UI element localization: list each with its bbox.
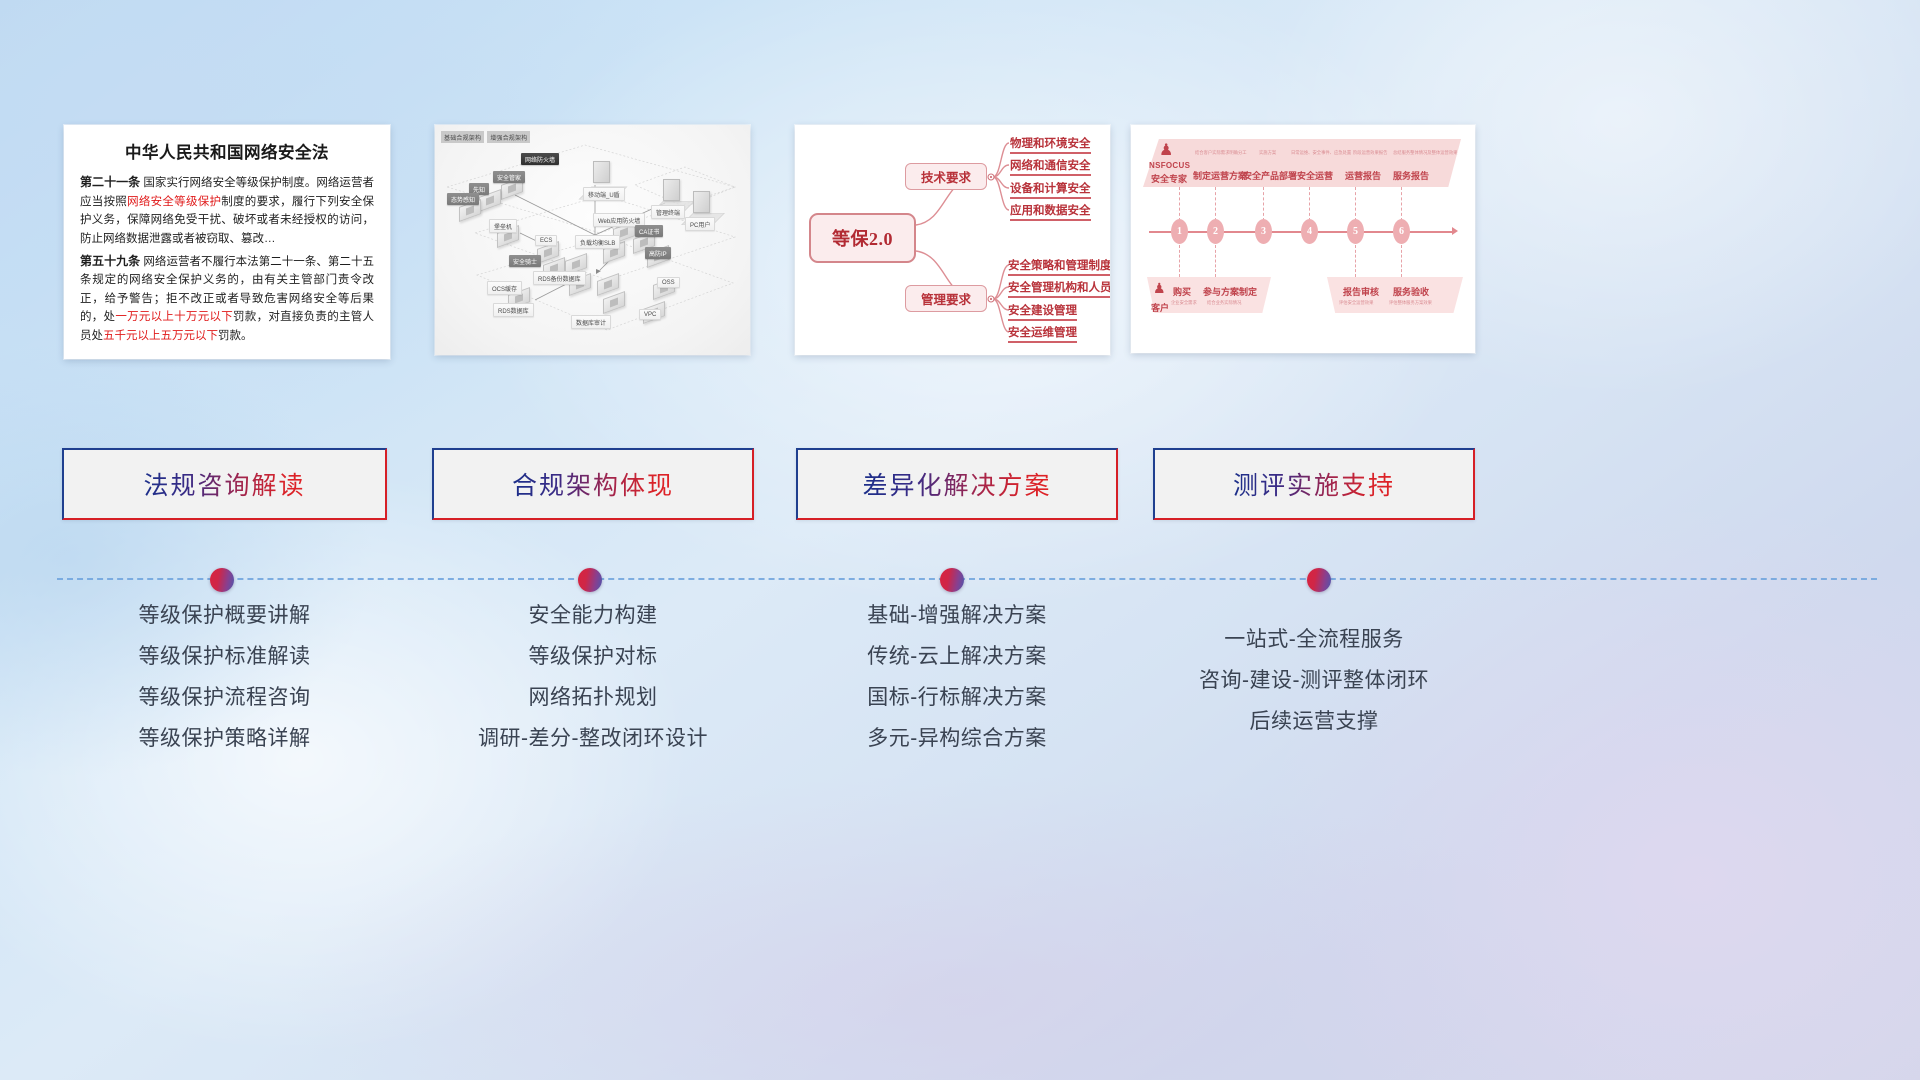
process-top-sub-1: 结合客户实际需求明确分工 <box>1195 150 1247 156</box>
list-item: 等级保护标准解读 <box>62 646 387 667</box>
article-59-red-2: 五千元以上五万元以下 <box>103 330 218 342</box>
pillar-list-solution: 基础-增强解决方案 传统-云上解决方案 国标-行标解决方案 多元-异构综合方案 <box>796 605 1118 769</box>
topology-chip-ca: CA证书 <box>635 225 663 237</box>
process-top-label-4: 运营报告 <box>1345 169 1381 182</box>
mindmap-leaf-device: 设备和计算安全 <box>1010 180 1091 199</box>
process-bottom-sub-4: 评估整体服务方案效果 <box>1389 300 1432 306</box>
list-item: 后续运营支撑 <box>1153 711 1475 732</box>
topology-chip-rdsbackup: RDS备份数据库 <box>533 271 586 285</box>
process-top-sub-4: 阶段运营效果报告 <box>1353 150 1387 156</box>
timeline-dot-4[interactable] <box>1307 568 1331 592</box>
list-item: 传统-云上解决方案 <box>796 646 1118 667</box>
pillar-list-architecture: 安全能力构建 等级保护对标 网络拓扑规划 调研-差分-整改闭环设计 <box>432 605 754 769</box>
topology-tag-basic: 基础合规架构 <box>441 131 484 143</box>
process-dash-4 <box>1309 187 1310 221</box>
mindmap-leaf-network: 网络和通信安全 <box>1010 157 1091 176</box>
topology-diagram: 基础合规架构 增强合规架构 <box>435 125 750 355</box>
topology-chip-ocs: OCS缓存 <box>487 281 522 295</box>
process-bottom-label-4: 服务验收 <box>1393 285 1429 298</box>
process-brand: NSFOCUS <box>1149 161 1190 170</box>
list-item: 一站式-全流程服务 <box>1153 629 1475 650</box>
process-top-label-3: 安全运营 <box>1297 169 1333 182</box>
process-top-sub-2: 实施方案 <box>1259 150 1276 156</box>
process-dash-6 <box>1401 187 1402 221</box>
process-step-5: 5 <box>1347 219 1364 244</box>
list-item: 等级保护对标 <box>432 646 754 667</box>
pillar-list-regulation: 等级保护概要讲解 等级保护标准解读 等级保护流程咨询 等级保护策略详解 <box>62 605 387 769</box>
process-dash-2 <box>1215 187 1216 221</box>
process-customer-label: 客户 <box>1151 301 1169 314</box>
topology-server-admin <box>663 179 680 201</box>
process-brand-sub: 安全专家 <box>1151 172 1187 185</box>
pillar-header-regulation[interactable]: 法规咨询解读 <box>62 448 387 520</box>
topology-chip-anqishi: 安全骑士 <box>509 255 541 267</box>
topology-chip-gaofangip: 高防IP <box>645 247 671 259</box>
thumbnail-mindmap-dengbao[interactable]: 等保2.0 技术要求 管理要求 物理和环境安全 网络和通信安全 设备和计算安全 … <box>795 125 1110 355</box>
topology-server-pc <box>693 191 710 213</box>
topology-chip-taishiganzhi: 态势感知 <box>447 193 479 205</box>
pillar-header-label-3: 差异化解决方案 <box>862 466 1051 502</box>
process-bottom-label-1: 购买 <box>1173 285 1191 298</box>
topology-chip-rds: RDS数据库 <box>493 303 534 317</box>
topology-chip-firewall: 网络防火墙 <box>521 153 559 165</box>
pillar-header-label-1: 法规咨询解读 <box>143 466 305 502</box>
expert-person-icon: ♟ <box>1159 143 1173 159</box>
topology-chip-dbaudit: 数据库审计 <box>571 315 611 329</box>
timeline-dot-2[interactable] <box>578 568 602 592</box>
list-item: 等级保护概要讲解 <box>62 605 387 626</box>
list-item: 多元-异构综合方案 <box>796 728 1118 749</box>
mindmap-leaf-policy: 安全策略和管理制度 <box>1008 257 1110 276</box>
timeline <box>0 568 1920 592</box>
mindmap-leaf-construction: 安全建设管理 <box>1008 302 1077 321</box>
customer-person-icon: ♟ <box>1153 281 1166 295</box>
pillar-header-label-4: 测评实施支持 <box>1233 466 1395 502</box>
law-document: 中华人民共和国网络安全法 第二十一条 国家实行网络安全等级保护制度。网络运营者应… <box>64 125 390 357</box>
mindmap-branch-technical: 技术要求 <box>905 163 987 190</box>
process-dash-b4 <box>1401 245 1402 277</box>
process-step-3: 3 <box>1255 219 1272 244</box>
topology-chip-vpc: VPC <box>639 309 661 320</box>
law-title: 中华人民共和国网络安全法 <box>80 139 374 163</box>
process-dash-b2 <box>1215 245 1216 277</box>
slide-canvas: 中华人民共和国网络安全法 第二十一条 国家实行网络安全等级保护制度。网络运营者应… <box>0 0 1920 1080</box>
pillar-header-architecture[interactable]: 合规架构体现 <box>432 448 754 520</box>
topology-chip-oss: OSS <box>657 277 680 288</box>
mindmap-branch-management: 管理要求 <box>905 285 987 312</box>
topology-chip-ecs: ECS <box>535 235 557 246</box>
pillar-header-row: 法规咨询解读 合规架构体现 差异化解决方案 测评实施支持 <box>0 448 1920 520</box>
article-59-label: 第五十九条 <box>80 254 140 268</box>
article-21-red: 网络安全等级保护 <box>127 196 221 208</box>
process-step-2: 2 <box>1207 219 1224 244</box>
topology-tag-group: 基础合规架构 增强合规架构 <box>441 131 530 143</box>
pillar-header-label-2: 合规架构体现 <box>512 466 674 502</box>
topology-tag-enhanced: 增强合规架构 <box>487 131 530 143</box>
process-step-4: 4 <box>1301 219 1318 244</box>
pillar-header-assessment[interactable]: 测评实施支持 <box>1153 448 1475 520</box>
process-bottom-sub-1: 企业安全需求 <box>1171 300 1197 306</box>
list-item: 咨询-建设-测评整体闭环 <box>1153 670 1475 691</box>
topology-chip-mobile: 移动端_U盾 <box>583 187 625 201</box>
thumbnail-nsfocus-process[interactable]: ♟ NSFOCUS 安全专家 结合客户实际需求明确分工 实施方案 日常运维、安全… <box>1131 125 1475 353</box>
process-top-label-1: 制定运营方案 <box>1193 169 1247 182</box>
pillar-list-assessment: 一站式-全流程服务 咨询-建设-测评整体闭环 后续运营支撑 <box>1153 629 1475 752</box>
thumbnail-row: 中华人民共和国网络安全法 第二十一条 国家实行网络安全等级保护制度。网络运营者应… <box>0 125 1920 361</box>
article-21-label: 第二十一条 <box>80 175 140 189</box>
article-59-text-c: 罚款。 <box>218 330 253 342</box>
timeline-dot-3[interactable] <box>940 568 964 592</box>
list-item: 等级保护流程咨询 <box>62 687 387 708</box>
process-top-sub-5: 总结服务整体情况及整体运营效果 <box>1393 150 1457 156</box>
list-item: 国标-行标解决方案 <box>796 687 1118 708</box>
article-59-red-1: 一万元以上十万元以下 <box>115 311 233 323</box>
process-bottom-sub-3: 评估安全运营效果 <box>1339 300 1373 306</box>
pillar-header-solution[interactable]: 差异化解决方案 <box>796 448 1118 520</box>
topology-chip-pc: PC用户 <box>685 217 715 231</box>
process-dash-5 <box>1355 187 1356 221</box>
mindmap-leaf-physical: 物理和环境安全 <box>1010 135 1091 154</box>
list-item: 网络拓扑规划 <box>432 687 754 708</box>
list-item: 安全能力构建 <box>432 605 754 626</box>
mindmap-diagram: 等保2.0 技术要求 管理要求 物理和环境安全 网络和通信安全 设备和计算安全 … <box>795 125 1110 355</box>
list-item: 基础-增强解决方案 <box>796 605 1118 626</box>
timeline-dashed-line <box>57 578 1877 580</box>
process-step-1: 1 <box>1171 219 1188 244</box>
process-top-label-2: 安全产品部署 <box>1243 169 1297 182</box>
topology-server-mobile <box>593 161 610 183</box>
process-bottom-label-2: 参与方案制定 <box>1203 285 1257 298</box>
list-item: 调研-差分-整改闭环设计 <box>432 728 754 749</box>
thumbnail-compliance-topology[interactable]: 基础合规架构 增强合规架构 <box>435 125 750 355</box>
topology-chip-slb: 负载均衡SLB <box>575 235 620 249</box>
process-bottom-sub-2: 结合业务实际情况 <box>1207 300 1241 306</box>
process-dash-b1 <box>1179 245 1180 277</box>
process-step-6: 6 <box>1393 219 1410 244</box>
process-dash-1 <box>1179 187 1180 221</box>
thumbnail-cybersecurity-law[interactable]: 中华人民共和国网络安全法 第二十一条 国家实行网络安全等级保护制度。网络运营者应… <box>64 125 390 359</box>
list-item: 等级保护策略详解 <box>62 728 387 749</box>
mindmap-leaf-ops: 安全运维管理 <box>1008 324 1077 343</box>
process-top-label-5: 服务报告 <box>1393 169 1429 182</box>
process-diagram: ♟ NSFOCUS 安全专家 结合客户实际需求明确分工 实施方案 日常运维、安全… <box>1131 125 1475 353</box>
process-arrow-icon <box>1452 227 1458 235</box>
topology-chip-baoleiji: 堡垒机 <box>489 219 517 233</box>
law-article-21: 第二十一条 国家实行网络安全等级保护制度。网络运营者应当按照网络安全等级保护制度… <box>80 173 374 249</box>
mindmap-leaf-org: 安全管理机构和人员 <box>1008 279 1110 298</box>
topology-chip-admin: 管理终端 <box>651 205 685 219</box>
topology-chip-anquanguanjia: 安全管家 <box>493 171 525 183</box>
process-dash-b3 <box>1355 245 1356 277</box>
mindmap-leaf-application: 应用和数据安全 <box>1010 202 1091 221</box>
process-top-sub-3: 日常运维、安全事件、应急处置 <box>1291 150 1351 156</box>
process-dash-3 <box>1263 187 1264 221</box>
timeline-dot-1[interactable] <box>210 568 234 592</box>
mindmap-root-node: 等保2.0 <box>809 213 916 263</box>
law-article-59: 第五十九条 网络运营者不履行本法第二十一条、第二十五条规定的网络安全保护义务的，… <box>80 252 374 346</box>
process-bottom-label-3: 报告审核 <box>1343 285 1379 298</box>
